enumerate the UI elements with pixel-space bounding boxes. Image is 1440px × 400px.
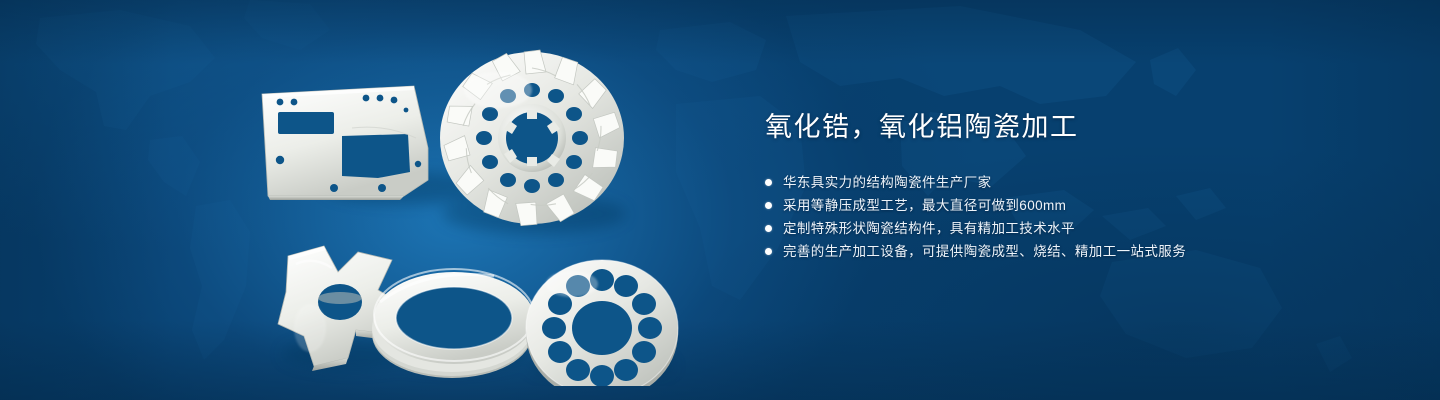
bullet-dot-icon (765, 179, 772, 186)
bullet-dot-icon (765, 225, 772, 232)
banner-copy: 氧化锆，氧化铝陶瓷加工 华东具实力的结构陶瓷件生产厂家 采用等静压成型工艺，最大… (765, 110, 1325, 263)
page-title: 氧化锆，氧化铝陶瓷加工 (765, 110, 1325, 144)
list-item: 华东具实力的结构陶瓷件生产厂家 (765, 171, 1325, 194)
ceramic-disc-shape (526, 260, 678, 386)
list-item: 采用等静压成型工艺，最大直径可做到600mm (765, 194, 1325, 217)
feature-list: 华东具实力的结构陶瓷件生产厂家 采用等静压成型工艺，最大直径可做到600mm 定… (765, 171, 1325, 263)
bullet-dot-icon (765, 202, 772, 209)
feature-text: 完善的生产加工设备，可提供陶瓷成型、烧结、精加工一站式服务 (783, 240, 1186, 263)
ceramic-plate-shape (262, 86, 428, 200)
feature-text: 定制特殊形状陶瓷结构件，具有精加工技术水平 (783, 217, 1075, 240)
feature-text: 华东具实力的结构陶瓷件生产厂家 (783, 171, 992, 194)
list-item: 完善的生产加工设备，可提供陶瓷成型、烧结、精加工一站式服务 (765, 240, 1325, 263)
list-item: 定制特殊形状陶瓷结构件，具有精加工技术水平 (765, 217, 1325, 240)
hero-banner: 氧化锆，氧化铝陶瓷加工 华东具实力的结构陶瓷件生产厂家 采用等静压成型工艺，最大… (0, 0, 1440, 400)
ceramic-rings-shape (372, 269, 534, 378)
product-image-group (232, 36, 732, 386)
bullet-dot-icon (765, 248, 772, 255)
feature-text: 采用等静压成型工艺，最大直径可做到600mm (783, 194, 1066, 217)
